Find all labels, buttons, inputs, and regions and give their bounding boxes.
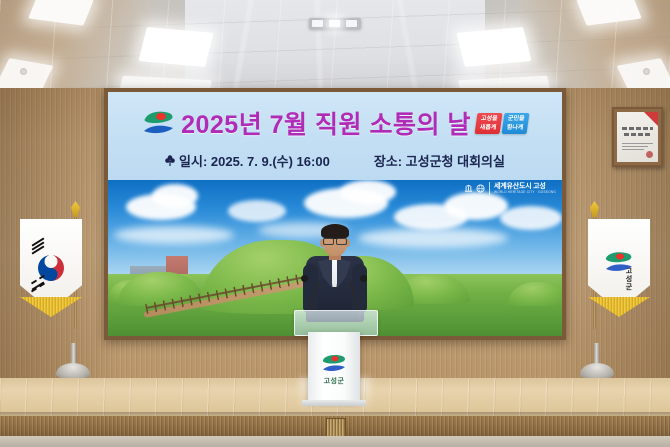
flag-stand-stem <box>71 343 76 365</box>
banner-datetime-label: 일시: 2025. 7. 9.(수) 16:00 <box>179 151 330 170</box>
goseong-county-emblem-icon <box>321 352 347 374</box>
cloud <box>444 192 508 220</box>
microphone-head-left <box>301 275 308 282</box>
screen-watermark: 세계유산도시 고성 WORLD HERITAGE CITY · GOSEONG <box>464 182 556 195</box>
podium-label: 고성군 <box>308 376 360 386</box>
cloud <box>114 226 234 244</box>
banner-title: 2025년 7월 직원 소통의 날 <box>181 105 471 141</box>
cloud <box>500 206 562 230</box>
microphone-head-right <box>360 275 367 282</box>
banner-title-row: 2025년 7월 직원 소통의 날 고성을 새롭게 군민을 힘나게 <box>108 102 562 144</box>
certificate-title-line <box>622 127 653 130</box>
certificate-paper <box>617 112 658 162</box>
framed-certificate <box>612 107 663 167</box>
banner-place-label: 장소: 고성군청 대회의실 <box>374 151 505 170</box>
flag-stand-base <box>580 363 614 379</box>
clover-icon <box>165 155 175 166</box>
cloud <box>228 200 286 222</box>
unesco-heritage-icon <box>464 184 473 193</box>
slogan-blue: 군민을 힘나게 <box>501 113 529 134</box>
ceiling-downlight-icon <box>643 68 650 75</box>
flag-label: 고성군 <box>623 267 633 291</box>
hall-floor <box>0 436 670 447</box>
speaker-hair <box>321 224 349 239</box>
flag-goseong-county: 고성군 <box>560 205 656 375</box>
presentation-banner: 2025년 7월 직원 소통의 날 고성을 새롭게 군민을 힘나게 <box>108 92 562 189</box>
globe-icon <box>476 184 485 193</box>
slogan-red: 고성을 새롭게 <box>474 113 502 134</box>
ceiling-downlight-icon <box>20 68 27 75</box>
flag-fringe <box>20 297 82 317</box>
conference-hall-photo: 2025년 7월 직원 소통의 날 고성을 새롭게 군민을 힘나게 <box>0 0 670 447</box>
flag-fringe <box>588 297 650 317</box>
banner-datetime: 일시: 2025. 7. 9.(수) 16:00 <box>165 151 330 170</box>
watermark-divider <box>489 182 490 195</box>
flag-stand-base <box>56 363 90 379</box>
slogan-red-line1: 고성을 <box>480 114 498 123</box>
watermark-icons <box>464 184 485 193</box>
certificate-seal-icon <box>646 151 653 158</box>
banner-info-row: 일시: 2025. 7. 9.(수) 16:00 장소: 고성군청 대회의실 <box>108 148 562 172</box>
flag-stand-stem <box>594 343 599 365</box>
watermark-main-text: 세계유산도시 고성 <box>494 183 556 190</box>
certificate-corner-accent <box>644 112 658 126</box>
ceiling <box>0 0 670 92</box>
goseong-county-emblem-icon <box>142 108 176 138</box>
cloud <box>152 184 198 208</box>
podium-area: 고성군 <box>286 222 384 392</box>
glasses-icon <box>323 238 347 243</box>
slogan-blue-line2: 힘나게 <box>506 123 524 132</box>
ceiling-light-panel <box>139 27 214 67</box>
stage-vent-grille <box>326 418 346 437</box>
slogan-badges: 고성을 새롭게 군민을 힘나게 <box>474 113 529 134</box>
banner-place: 장소: 고성군청 대회의실 <box>374 151 505 170</box>
speaking-podium: 고성군 <box>308 332 360 402</box>
slogan-red-line2: 새롭게 <box>479 123 497 132</box>
ceiling-light-panel <box>457 27 532 67</box>
ceiling-spotlight-bar <box>309 18 361 29</box>
slogan-blue-line1: 군민을 <box>507 114 525 123</box>
podium-base <box>302 400 366 406</box>
flag-south-korea <box>14 205 110 375</box>
cloud <box>340 180 396 204</box>
ceiling-beams <box>0 0 670 92</box>
watermark-text: 세계유산도시 고성 WORLD HERITAGE CITY · GOSEONG <box>494 183 556 194</box>
certificate-title-line <box>624 133 651 136</box>
speaker-arm-right <box>352 264 367 314</box>
watermark-sub-text: WORLD HERITAGE CITY · GOSEONG <box>494 191 556 194</box>
